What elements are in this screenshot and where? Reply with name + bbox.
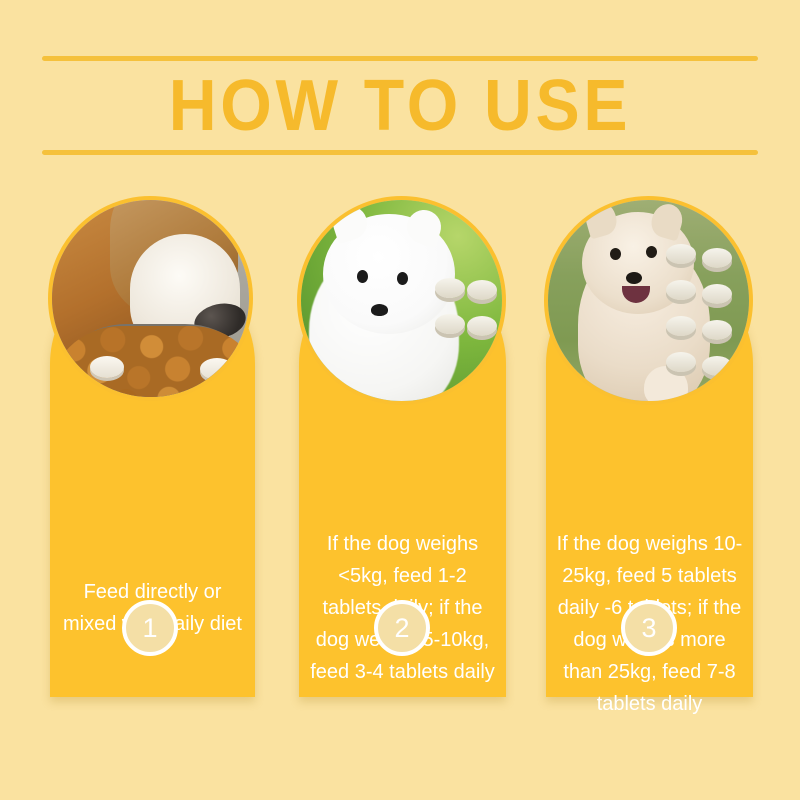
step-number-badge-2: 2 bbox=[374, 600, 430, 656]
puppy-eye-left-shape bbox=[357, 270, 368, 283]
tablet-icon bbox=[702, 320, 732, 340]
step-number-badge-3: 3 bbox=[621, 600, 677, 656]
header-rule-bottom bbox=[42, 150, 758, 155]
puppy-nose-shape bbox=[371, 304, 388, 316]
tablet-icon bbox=[90, 356, 124, 378]
tablet-icon bbox=[435, 278, 465, 298]
tablet-icon bbox=[200, 358, 234, 380]
tablet-icon bbox=[467, 280, 497, 300]
steps-container: Feed directly or mixed with daily diet 1… bbox=[0, 196, 800, 716]
tablet-icon bbox=[702, 248, 732, 268]
beagle-eating-kibble-image bbox=[52, 200, 249, 397]
step-3-photo bbox=[544, 196, 753, 405]
step-number-badge-1: 1 bbox=[122, 600, 178, 656]
cream-pomeranian-dog-image bbox=[548, 200, 749, 401]
tablet-icon bbox=[666, 316, 696, 336]
tablet-icon bbox=[666, 280, 696, 300]
dog-eye-left-shape bbox=[610, 248, 621, 260]
tablet-group-3 bbox=[666, 244, 750, 380]
tablet-icon bbox=[435, 314, 465, 334]
tablet-icon bbox=[702, 284, 732, 304]
tablet-icon bbox=[666, 244, 696, 264]
dog-nose-shape bbox=[626, 272, 642, 284]
tablet-group-2 bbox=[435, 278, 499, 340]
page-title: HOW TO USE bbox=[71, 61, 730, 150]
step-1-photo bbox=[48, 196, 253, 401]
step-2-photo bbox=[297, 196, 506, 405]
dog-eye-right-shape bbox=[646, 246, 657, 258]
white-pomeranian-puppy-image bbox=[301, 200, 502, 401]
tablet-icon bbox=[467, 316, 497, 336]
tablet-icon bbox=[666, 352, 696, 372]
puppy-eye-right-shape bbox=[397, 272, 408, 285]
page-header: HOW TO USE bbox=[42, 56, 758, 160]
tablet-icon bbox=[702, 356, 732, 376]
